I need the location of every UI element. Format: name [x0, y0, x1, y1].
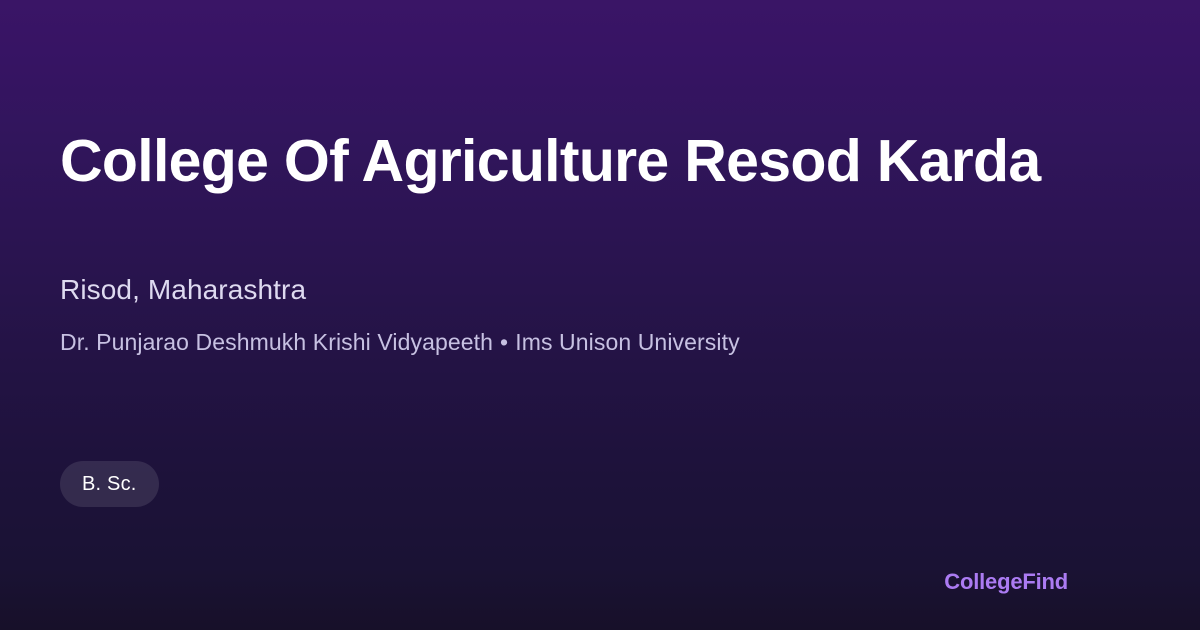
- college-affiliation: Dr. Punjarao Deshmukh Krishi Vidyapeeth•…: [60, 327, 740, 357]
- affiliation-separator-bullet-icon: •: [493, 329, 515, 355]
- college-location: Risod, Maharashtra: [60, 272, 306, 308]
- page-title: College Of Agriculture Resod Karda: [60, 126, 1120, 196]
- open-graph-card: College Of Agriculture Resod Karda Risod…: [0, 0, 1200, 630]
- degree-tag-list: B. Sc.: [60, 461, 159, 507]
- affiliation-secondary: Ims Unison University: [515, 329, 740, 355]
- brand-logo-text: CollegeFind: [944, 568, 1068, 596]
- affiliation-primary: Dr. Punjarao Deshmukh Krishi Vidyapeeth: [60, 329, 493, 355]
- degree-tag-bsc: B. Sc.: [60, 461, 159, 507]
- card-content: College Of Agriculture Resod Karda Risod…: [60, 0, 1140, 630]
